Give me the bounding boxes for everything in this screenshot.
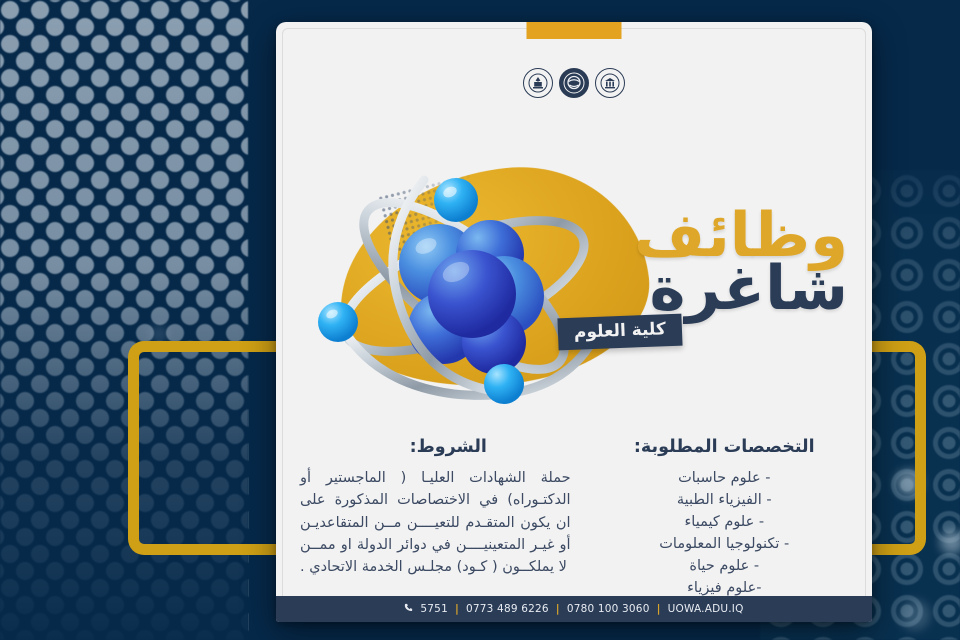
footer-separator: | [455, 603, 459, 615]
bokeh-dot [940, 530, 960, 554]
poster-card: وظائف شاغرة كلية العلوم التخصصات المطلوب… [276, 22, 872, 622]
list-item: - الفيزياء الطبية [595, 489, 854, 511]
poster-stage: وظائف شاغرة كلية العلوم التخصصات المطلوب… [0, 0, 960, 640]
list-item: - علوم كيمياء [595, 511, 854, 533]
conditions-column: الشروط: حملة الشهادات العليـا ( الماجستي… [294, 437, 585, 599]
ministry-emblem-logo [523, 68, 553, 98]
list-item: - علوم حياة [595, 555, 854, 577]
footer-bar: 5751 | 0773 489 6226 | 0780 100 3060 | U… [276, 596, 872, 622]
body-columns: التخصصات المطلوبة: - علوم حاسبات - الفيز… [294, 437, 854, 599]
bokeh-dot [900, 600, 930, 630]
university-globe-logo [559, 68, 589, 98]
specializations-column: التخصصات المطلوبة: - علوم حاسبات - الفيز… [595, 437, 854, 599]
logo-row [523, 68, 625, 98]
conditions-heading: الشروط: [294, 437, 585, 458]
footer-website: UOWA.ADU.IQ [668, 603, 744, 615]
footer-phone-3: 0780 100 3060 [567, 603, 650, 615]
electron [484, 364, 524, 404]
electron [434, 178, 478, 222]
top-gold-tab [527, 22, 622, 39]
footer-phone-1: 5751 [420, 603, 448, 615]
conditions-body: حملة الشهادات العليـا ( الماجستير أو الد… [294, 467, 585, 579]
footer-separator: | [556, 603, 560, 615]
electron [318, 302, 358, 342]
footer-separator: | [657, 603, 661, 615]
college-building-logo [595, 68, 625, 98]
headline-line-2: شاغرة [558, 258, 848, 320]
specializations-list: - علوم حاسبات - الفيزياء الطبية - علوم ك… [595, 467, 854, 599]
headline-block: وظائف شاغرة كلية العلوم [558, 208, 848, 348]
phone-icon [404, 603, 413, 615]
list-item: - علوم حاسبات [595, 467, 854, 489]
college-badge: كلية العلوم [557, 314, 682, 351]
specializations-heading: التخصصات المطلوبة: [595, 437, 854, 458]
list-item: - تكنولوجيا المعلومات [595, 533, 854, 555]
footer-phone-2: 0773 489 6226 [466, 603, 549, 615]
